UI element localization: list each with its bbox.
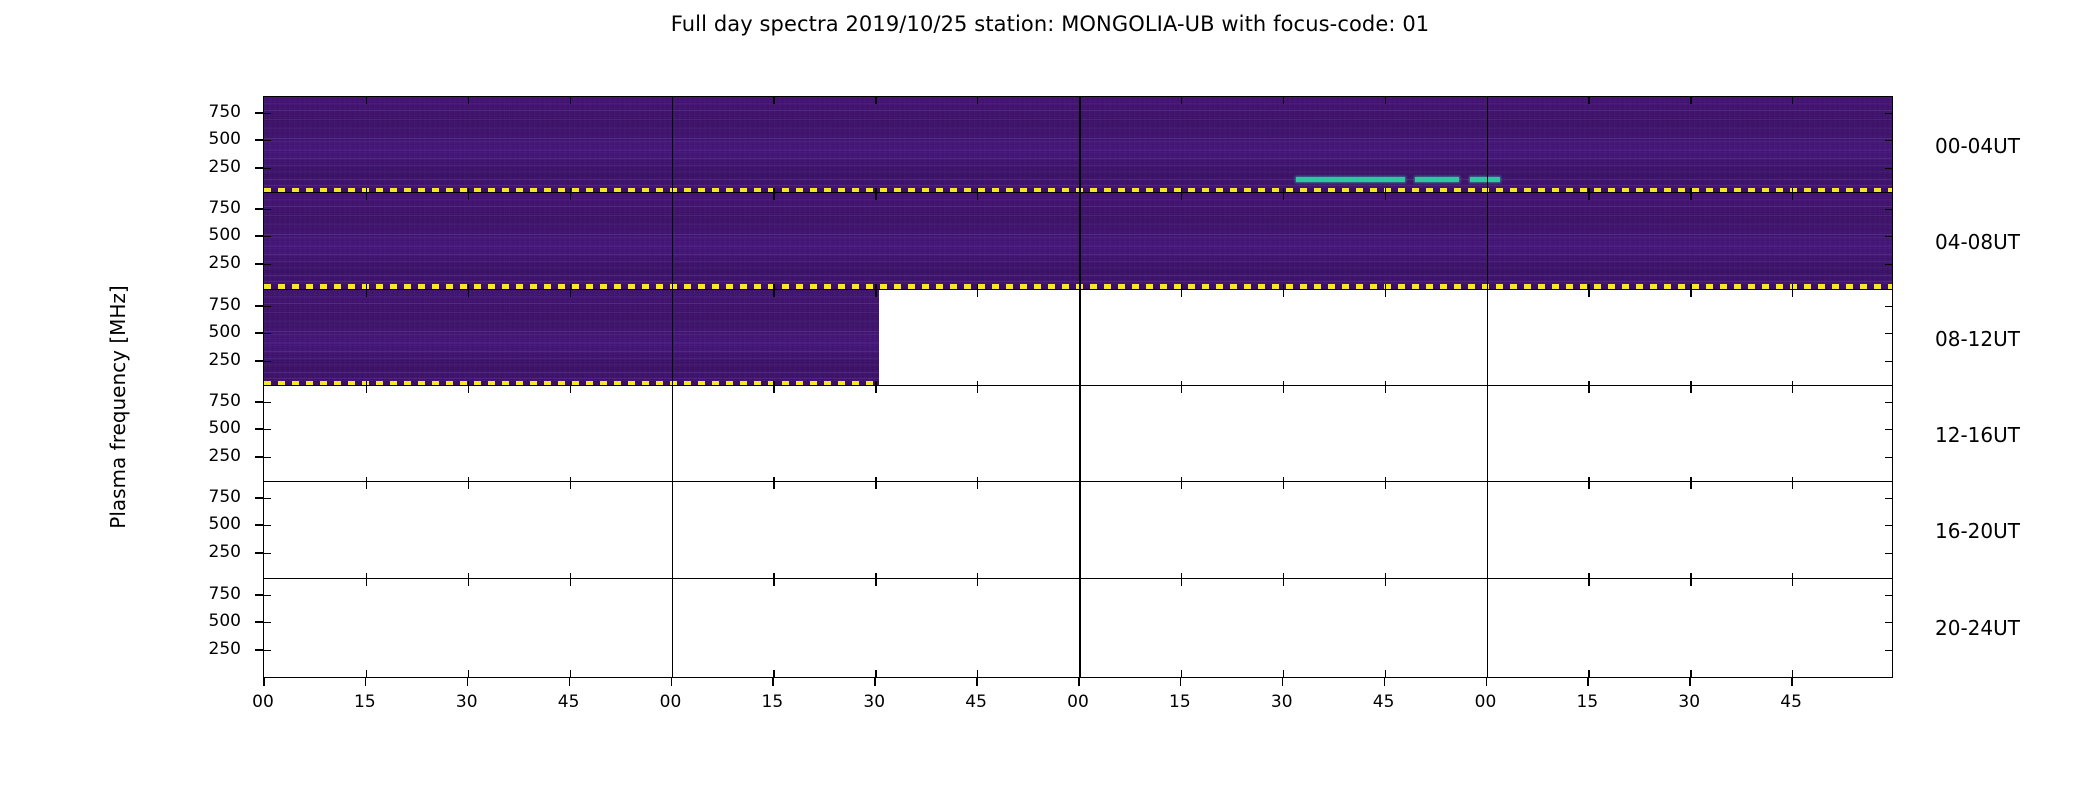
y-tick-label: 250 xyxy=(161,255,241,272)
minor-tick xyxy=(1588,579,1589,586)
y-tick-label: 500 xyxy=(161,420,241,437)
minor-tick xyxy=(1181,386,1182,393)
panel-plot-area xyxy=(264,290,1892,388)
y-minor-tick xyxy=(1885,498,1892,499)
panel-time-label-04-08ut: 04-08UT xyxy=(1935,230,2020,254)
minor-tick xyxy=(366,579,367,586)
hour-separator xyxy=(1487,97,1489,195)
noise-streak xyxy=(264,119,1892,120)
noise-streak xyxy=(264,312,879,313)
noise-streak xyxy=(264,179,1892,180)
minor-tick xyxy=(1690,482,1691,489)
hour-separator xyxy=(672,97,674,195)
y-tick-label: 750 xyxy=(161,200,241,217)
y-tick-label: 250 xyxy=(161,544,241,561)
panel-time-label-12-16ut: 12-16UT xyxy=(1935,423,2020,447)
minor-tick xyxy=(468,386,469,393)
noise-streak xyxy=(264,364,879,366)
x-tick-label: 15 xyxy=(742,694,802,711)
x-tick-label: 00 xyxy=(1048,694,1108,711)
minor-tick xyxy=(1690,670,1691,677)
y-minor-tick xyxy=(264,402,271,403)
minor-tick xyxy=(1690,193,1691,200)
y-minor-tick xyxy=(264,113,271,114)
minor-tick xyxy=(1385,193,1386,200)
spectrogram-raster xyxy=(264,290,879,388)
panel-plot-area xyxy=(264,386,1892,484)
spectrogram-raster xyxy=(264,97,1892,195)
minor-tick xyxy=(977,290,978,297)
x-tick-label: 15 xyxy=(1557,694,1617,711)
y-tick-mark xyxy=(255,456,263,458)
y-tick-mark xyxy=(255,235,263,237)
hour-separator xyxy=(1487,386,1489,484)
panel-plot-area xyxy=(264,482,1892,580)
hour-separator xyxy=(1079,579,1081,677)
noise-streak xyxy=(264,103,1892,105)
y-minor-tick xyxy=(1885,361,1892,362)
y-minor-tick xyxy=(264,650,271,651)
panel-time-label-00-04ut: 00-04UT xyxy=(1935,134,2020,158)
minor-tick xyxy=(1588,670,1589,677)
minor-tick xyxy=(875,482,876,489)
minor-tick xyxy=(1181,97,1182,104)
minor-tick xyxy=(875,386,876,393)
minor-tick xyxy=(570,482,571,489)
x-tick-mark xyxy=(263,678,265,686)
minor-tick xyxy=(570,670,571,677)
minor-tick xyxy=(1283,193,1284,200)
x-tick-label: 30 xyxy=(437,694,497,711)
y-tick-mark xyxy=(255,428,263,430)
minor-tick xyxy=(570,97,571,104)
bright-trace-segment xyxy=(1470,177,1501,182)
x-tick-mark xyxy=(365,678,367,686)
y-minor-tick xyxy=(1885,595,1892,596)
y-minor-tick xyxy=(1885,236,1892,237)
y-minor-tick xyxy=(264,595,271,596)
minor-tick xyxy=(1385,579,1386,586)
panel-time-label-20-24ut: 20-24UT xyxy=(1935,616,2020,640)
noise-streak xyxy=(264,267,1892,269)
noise-streak xyxy=(264,245,1892,247)
minor-tick xyxy=(1588,482,1589,489)
minor-tick xyxy=(1385,290,1386,297)
minor-tick xyxy=(1588,386,1589,393)
y-minor-tick xyxy=(264,429,271,430)
noise-streak xyxy=(264,275,1892,276)
y-minor-tick xyxy=(1885,333,1892,334)
y-tick-mark xyxy=(255,139,263,141)
y-minor-tick xyxy=(1885,650,1892,651)
y-minor-tick xyxy=(264,168,271,169)
y-minor-tick xyxy=(264,498,271,499)
y-tick-label: 500 xyxy=(161,613,241,630)
minor-tick xyxy=(1792,193,1793,200)
hour-separator xyxy=(1487,482,1489,580)
minor-tick xyxy=(1385,386,1386,393)
minor-tick xyxy=(570,290,571,297)
y-tick-label: 250 xyxy=(161,352,241,369)
x-tick-mark xyxy=(569,678,571,686)
y-minor-tick xyxy=(264,209,271,210)
x-tick-label: 00 xyxy=(233,694,293,711)
minor-tick xyxy=(366,97,367,104)
minor-tick xyxy=(468,193,469,200)
minor-tick xyxy=(773,193,774,200)
noise-streak xyxy=(264,185,1892,186)
minor-tick xyxy=(977,579,978,586)
minor-tick xyxy=(468,670,469,677)
hour-separator xyxy=(1487,579,1489,677)
minor-tick xyxy=(1690,290,1691,297)
minor-tick xyxy=(468,290,469,297)
x-tick-label: 30 xyxy=(844,694,904,711)
noise-streak xyxy=(264,158,1892,159)
x-tick-mark xyxy=(1180,678,1182,686)
minor-tick xyxy=(1283,97,1284,104)
hour-separator xyxy=(1079,482,1081,580)
y-minor-tick xyxy=(264,140,271,141)
minor-tick xyxy=(977,193,978,200)
y-minor-tick xyxy=(1885,140,1892,141)
minor-tick xyxy=(468,482,469,489)
noise-streak xyxy=(264,138,1892,139)
noise-streak xyxy=(264,171,1892,173)
x-tick-mark xyxy=(874,678,876,686)
x-tick-mark xyxy=(1587,678,1589,686)
minor-tick xyxy=(1588,290,1589,297)
y-minor-tick xyxy=(264,457,271,458)
y-tick-mark xyxy=(255,497,263,499)
noise-streak xyxy=(264,281,1892,282)
noise-streak xyxy=(264,334,879,335)
minor-tick xyxy=(1385,97,1386,104)
y-tick-label: 250 xyxy=(161,448,241,465)
spectrogram-panel-16-20ut[interactable] xyxy=(263,481,1893,581)
figure-title: Full day spectra 2019/10/25 station: MON… xyxy=(0,12,2100,36)
y-tick-label: 500 xyxy=(161,131,241,148)
y-minor-tick xyxy=(264,264,271,265)
y-minor-tick xyxy=(1885,622,1892,623)
x-tick-label: 30 xyxy=(1659,694,1719,711)
y-tick-mark xyxy=(255,524,263,526)
hour-separator xyxy=(672,482,674,580)
minor-tick xyxy=(1588,97,1589,104)
spectrogram-panel-00-04ut[interactable] xyxy=(263,96,1893,196)
x-tick-label: 00 xyxy=(641,694,701,711)
minor-tick xyxy=(1283,670,1284,677)
y-minor-tick xyxy=(1885,113,1892,114)
y-minor-tick xyxy=(1885,457,1892,458)
y-tick-label: 250 xyxy=(161,159,241,176)
y-minor-tick xyxy=(1885,168,1892,169)
x-tick-mark xyxy=(1689,678,1691,686)
y-axis-label: Plasma frequency [MHz] xyxy=(106,197,130,617)
y-tick-mark xyxy=(255,401,263,403)
hour-separator xyxy=(672,193,674,291)
y-minor-tick xyxy=(264,333,271,334)
y-tick-mark xyxy=(255,263,263,265)
hour-separator xyxy=(672,579,674,677)
y-minor-tick xyxy=(1885,553,1892,554)
x-tick-mark xyxy=(1282,678,1284,686)
minor-tick xyxy=(1283,290,1284,297)
minor-tick xyxy=(468,579,469,586)
y-minor-tick xyxy=(264,306,271,307)
y-minor-tick xyxy=(264,361,271,362)
noise-streak xyxy=(264,127,1892,129)
y-minor-tick xyxy=(1885,525,1892,526)
y-tick-mark xyxy=(255,208,263,210)
bright-trace-segment xyxy=(1296,177,1405,182)
minor-tick xyxy=(977,97,978,104)
minor-tick xyxy=(1588,193,1589,200)
panel-plot-area xyxy=(264,579,1892,677)
panel-time-label-08-12ut: 08-12UT xyxy=(1935,327,2020,351)
y-minor-tick xyxy=(264,236,271,237)
y-tick-mark xyxy=(255,112,263,114)
minor-tick xyxy=(1283,482,1284,489)
x-tick-mark xyxy=(1384,678,1386,686)
minor-tick xyxy=(366,290,367,297)
y-tick-label: 500 xyxy=(161,324,241,341)
x-tick-mark xyxy=(1078,678,1080,686)
y-minor-tick xyxy=(1885,306,1892,307)
noise-streak xyxy=(264,303,879,304)
noise-streak xyxy=(264,378,879,379)
hour-separator xyxy=(1079,290,1081,388)
y-minor-tick xyxy=(1885,429,1892,430)
minor-tick xyxy=(1690,386,1691,393)
x-tick-label: 45 xyxy=(1354,694,1414,711)
minor-tick xyxy=(1181,579,1182,586)
minor-tick xyxy=(875,97,876,104)
x-tick-label: 45 xyxy=(539,694,599,711)
noise-streak xyxy=(264,320,879,322)
y-tick-label: 750 xyxy=(161,104,241,121)
bright-trace-segment xyxy=(1415,177,1459,182)
y-tick-label: 500 xyxy=(161,227,241,244)
minor-tick xyxy=(1181,482,1182,489)
minor-tick xyxy=(977,670,978,677)
noise-streak xyxy=(264,351,879,352)
minor-tick xyxy=(570,579,571,586)
x-tick-label: 45 xyxy=(946,694,1006,711)
minor-tick xyxy=(1385,670,1386,677)
y-minor-tick xyxy=(264,525,271,526)
minor-tick xyxy=(773,482,774,489)
y-tick-label: 250 xyxy=(161,641,241,658)
minor-tick xyxy=(773,290,774,297)
minor-tick xyxy=(468,97,469,104)
noise-streak xyxy=(264,215,1892,216)
x-tick-mark xyxy=(1791,678,1793,686)
minor-tick xyxy=(1792,386,1793,393)
minor-tick xyxy=(1283,386,1284,393)
panel-plot-area xyxy=(264,193,1892,291)
y-tick-mark xyxy=(255,594,263,596)
hour-separator xyxy=(672,290,674,388)
minor-tick xyxy=(977,482,978,489)
y-tick-label: 750 xyxy=(161,586,241,603)
panel-plot-area xyxy=(264,97,1892,195)
minor-tick xyxy=(875,579,876,586)
y-minor-tick xyxy=(1885,209,1892,210)
x-tick-mark xyxy=(1486,678,1488,686)
minor-tick xyxy=(875,193,876,200)
minor-tick xyxy=(570,193,571,200)
minor-tick xyxy=(773,579,774,586)
spectrogram-raster xyxy=(264,193,1892,291)
noise-streak xyxy=(264,342,879,344)
noise-streak xyxy=(264,149,1892,151)
noise-streak xyxy=(264,261,1892,262)
y-tick-mark xyxy=(255,649,263,651)
noise-streak xyxy=(264,223,1892,225)
x-tick-label: 30 xyxy=(1252,694,1312,711)
minor-tick xyxy=(875,290,876,297)
noise-streak xyxy=(264,206,1892,207)
x-tick-mark xyxy=(467,678,469,686)
minor-tick xyxy=(366,386,367,393)
hour-separator xyxy=(1079,193,1081,291)
y-minor-tick xyxy=(264,622,271,623)
minor-tick xyxy=(773,97,774,104)
minor-tick xyxy=(1283,579,1284,586)
y-tick-mark xyxy=(255,552,263,554)
spectrogram-figure: Full day spectra 2019/10/25 station: MON… xyxy=(0,0,2100,800)
hour-separator xyxy=(1079,97,1081,195)
x-tick-mark xyxy=(976,678,978,686)
y-tick-mark xyxy=(255,332,263,334)
spectrogram-panel-12-16ut[interactable] xyxy=(263,385,1893,485)
noise-streak xyxy=(264,199,1892,201)
y-minor-tick xyxy=(1885,402,1892,403)
y-minor-tick xyxy=(264,553,271,554)
noise-streak xyxy=(264,165,1892,166)
noise-streak xyxy=(264,237,1892,238)
y-tick-label: 750 xyxy=(161,489,241,506)
minor-tick xyxy=(366,670,367,677)
x-tick-label: 15 xyxy=(335,694,395,711)
hour-separator xyxy=(1079,386,1081,484)
x-tick-label: 45 xyxy=(1761,694,1821,711)
minor-tick xyxy=(1690,579,1691,586)
minor-tick xyxy=(1690,97,1691,104)
y-tick-mark xyxy=(255,621,263,623)
minor-tick xyxy=(1792,290,1793,297)
y-tick-label: 750 xyxy=(161,297,241,314)
y-tick-mark xyxy=(255,360,263,362)
minor-tick xyxy=(773,670,774,677)
minor-tick xyxy=(366,482,367,489)
y-tick-mark xyxy=(255,167,263,169)
noise-streak xyxy=(264,372,879,373)
noise-streak xyxy=(264,254,1892,255)
minor-tick xyxy=(1181,193,1182,200)
noise-streak xyxy=(264,296,879,298)
minor-tick xyxy=(875,670,876,677)
minor-tick xyxy=(773,386,774,393)
hour-separator xyxy=(672,386,674,484)
noise-streak xyxy=(264,358,879,359)
minor-tick xyxy=(1385,482,1386,489)
spectrogram-panel-04-08ut[interactable] xyxy=(263,192,1893,292)
spectrogram-panel-08-12ut[interactable] xyxy=(263,289,1893,389)
minor-tick xyxy=(1181,670,1182,677)
noise-streak xyxy=(264,141,1892,142)
noise-streak xyxy=(264,331,879,332)
y-tick-mark xyxy=(255,305,263,307)
y-minor-tick xyxy=(1885,264,1892,265)
x-tick-label: 00 xyxy=(1456,694,1516,711)
spectrogram-panel-20-24ut[interactable] xyxy=(263,578,1893,678)
noise-streak xyxy=(264,234,1892,235)
hour-separator xyxy=(1487,193,1489,291)
minor-tick xyxy=(1792,579,1793,586)
minor-tick xyxy=(570,386,571,393)
y-tick-label: 750 xyxy=(161,393,241,410)
x-tick-mark xyxy=(772,678,774,686)
minor-tick xyxy=(1181,290,1182,297)
minor-tick xyxy=(366,193,367,200)
y-tick-label: 500 xyxy=(161,516,241,533)
panel-time-label-16-20ut: 16-20UT xyxy=(1935,519,2020,543)
noise-streak xyxy=(264,110,1892,111)
minor-tick xyxy=(1792,670,1793,677)
minor-tick xyxy=(977,386,978,393)
hour-separator xyxy=(1487,290,1489,388)
x-tick-label: 15 xyxy=(1150,694,1210,711)
x-tick-mark xyxy=(671,678,673,686)
minor-tick xyxy=(1792,97,1793,104)
minor-tick xyxy=(1792,482,1793,489)
